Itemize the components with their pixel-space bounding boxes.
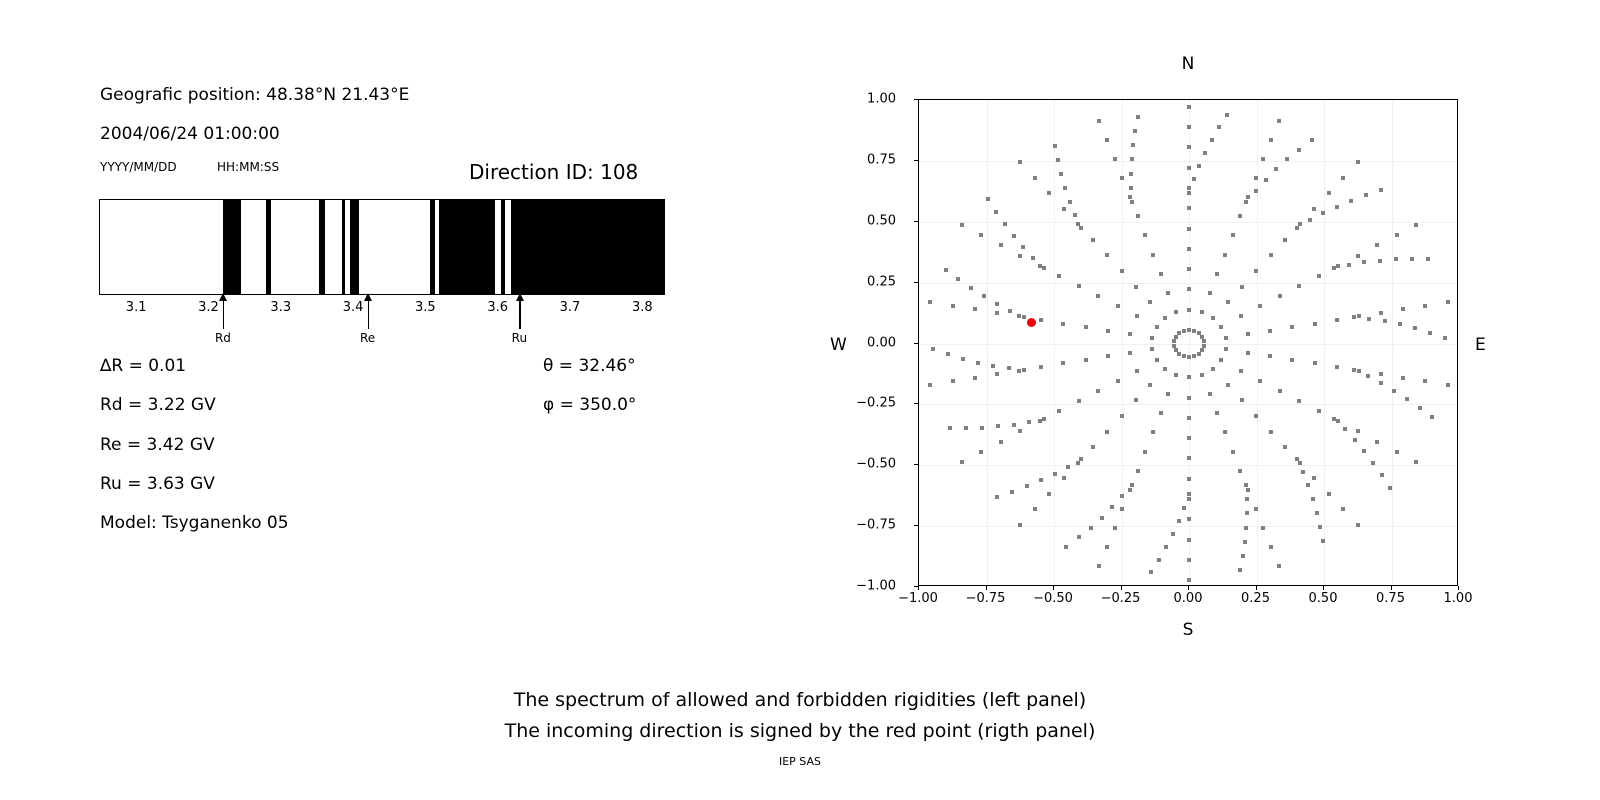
direction-grid-dot [1414, 223, 1418, 227]
direction-grid-dot [1187, 477, 1191, 481]
spectrum-tick-label: 3.2 [198, 300, 219, 315]
direction-grid-dot [1308, 218, 1312, 222]
direction-grid-dot [1033, 507, 1037, 511]
direction-grid-dot [1278, 294, 1282, 298]
x-axis-tick-label: 0.75 [1376, 591, 1405, 606]
direction-grid-dot [1379, 311, 1383, 315]
direction-grid-dot [1134, 285, 1138, 289]
forbidden-band [223, 200, 241, 294]
gridline-horizontal [919, 404, 1457, 405]
forbidden-band [430, 200, 435, 294]
direction-grid-dot [1318, 525, 1322, 529]
spectrum-marker-label: Ru [512, 331, 527, 345]
direction-grid-dot [1135, 314, 1139, 318]
direction-grid-dot [1155, 358, 1159, 362]
direction-grid-dot [1116, 304, 1120, 308]
direction-grid-dot [1327, 492, 1331, 496]
spectrum-tick-label: 3.8 [632, 300, 653, 315]
direction-grid-dot [1007, 366, 1011, 370]
direction-grid-dot [1269, 545, 1273, 549]
rd-value: Rd = 3.22 GV [100, 395, 216, 415]
direction-grid-dot [1357, 369, 1361, 373]
direction-grid-dot [1392, 389, 1396, 393]
direction-grid-dot [960, 223, 964, 227]
direction-grid-dot [1027, 420, 1031, 424]
direction-grid-dot [951, 304, 955, 308]
direction-grid-dot [1215, 411, 1219, 415]
direction-grid-dot [1187, 558, 1191, 562]
direction-grid-dot [1039, 478, 1043, 482]
direction-grid-dot [1128, 351, 1132, 355]
direction-grid-dot [1379, 188, 1383, 192]
x-axis-tick-mark [918, 586, 919, 590]
direction-grid-dot [1371, 461, 1375, 465]
direction-grid-dot [931, 347, 935, 351]
direction-grid-dot [1187, 578, 1191, 582]
direction-grid-dot [928, 300, 932, 304]
direction-grid-dot [1039, 318, 1043, 322]
date-format-hint: YYYY/MM/DD [100, 160, 177, 174]
direction-grid-dot [1057, 409, 1061, 413]
y-axis-tick-label: −0.50 [856, 457, 896, 472]
direction-grid-dot [1063, 186, 1067, 190]
direction-grid-dot [1277, 119, 1281, 123]
direction-grid-dot [944, 268, 948, 272]
direction-grid-dot [1129, 186, 1133, 190]
delta-r-value: ∆R = 0.01 [100, 356, 186, 376]
direction-grid-dot [1317, 409, 1321, 413]
direction-grid-dot [1187, 267, 1191, 271]
direction-grid-dot [1336, 264, 1340, 268]
direction-grid-dot [1172, 344, 1176, 348]
x-axis-tick-mark [1256, 586, 1257, 590]
direction-grid-dot [1362, 260, 1366, 264]
x-axis-tick-label: −0.25 [1101, 591, 1141, 606]
direction-grid-dot [1418, 406, 1422, 410]
direction-grid-dot [1312, 476, 1316, 480]
direction-grid-dot [1401, 307, 1405, 311]
direction-grid-dot [1353, 438, 1357, 442]
direction-grid-dot [1017, 369, 1021, 373]
direction-grid-dot [1258, 379, 1262, 383]
gridline-vertical [1189, 100, 1190, 585]
direction-grid-dot [1192, 329, 1196, 333]
direction-grid-dot [1187, 492, 1191, 496]
direction-grid-dot [1187, 206, 1191, 210]
direction-grid-dot [1197, 352, 1201, 356]
direction-grid-dot [1187, 105, 1191, 109]
direction-grid-dot [1197, 164, 1201, 168]
direction-grid-dot [1022, 368, 1026, 372]
direction-grid-dot [1187, 125, 1191, 129]
direction-grid-dot [1321, 211, 1325, 215]
direction-grid-dot [1143, 450, 1147, 454]
direction-grid-dot [1047, 191, 1051, 195]
direction-grid-dot [1091, 445, 1095, 449]
direction-grid-dot [1105, 545, 1109, 549]
spectrum-marker-label: Rd [215, 331, 231, 345]
direction-grid-dot [964, 426, 968, 430]
direction-grid-dot [996, 424, 1000, 428]
direction-grid-dot [1423, 379, 1427, 383]
geographic-position-text: Geografic position: 48.38°N 21.43°E [100, 85, 409, 105]
gridline-horizontal [919, 283, 1457, 284]
direction-grid-dot [1172, 339, 1176, 343]
direction-grid-dot [1166, 291, 1170, 295]
direction-grid-dot [1110, 505, 1114, 509]
x-axis-tick-label: −0.50 [1033, 591, 1073, 606]
direction-grid-dot [1182, 506, 1186, 510]
direction-grid-dot [999, 440, 1003, 444]
direction-grid-dot [1426, 257, 1430, 261]
direction-grid-dot [1269, 430, 1273, 434]
gridline-vertical [1392, 100, 1393, 585]
direction-grid-dot [973, 307, 977, 311]
spectrum-marker-label: Re [360, 331, 375, 345]
x-axis-tick-label: 0.50 [1309, 591, 1338, 606]
direction-grid-dot [1357, 314, 1361, 318]
direction-grid-dot [1297, 148, 1301, 152]
direction-grid-dot [1313, 361, 1317, 365]
direction-grid-dot [1182, 354, 1186, 358]
direction-grid-dot [1352, 315, 1356, 319]
y-axis-tick-mark [914, 160, 918, 161]
direction-grid-dot [1210, 138, 1214, 142]
direction-grid-dot [1163, 367, 1167, 371]
gridline-horizontal [919, 344, 1457, 345]
y-axis-tick-label: 0.00 [867, 335, 896, 350]
direction-grid-dot [1151, 253, 1155, 257]
direction-grid-dot [1018, 254, 1022, 258]
y-axis-tick-mark [914, 525, 918, 526]
direction-grid-dot [1414, 460, 1418, 464]
rigidity-spectrum-chart [99, 199, 665, 295]
x-axis-tick-mark [1391, 586, 1392, 590]
direction-grid-dot [979, 233, 983, 237]
left-panel: Geografic position: 48.38°N 21.43°E 2004… [0, 0, 700, 680]
direction-grid-dot [1120, 507, 1124, 511]
direction-grid-dot [1038, 264, 1042, 268]
direction-grid-dot [1010, 490, 1014, 494]
direction-grid-dot [1129, 172, 1133, 176]
direction-grid-dot [1244, 526, 1248, 530]
direction-grid-dot [1136, 214, 1140, 218]
direction-grid-dot [1240, 285, 1244, 289]
direction-grid-dot [1356, 429, 1360, 433]
direction-grid-dot [1258, 304, 1262, 308]
direction-grid-dot [1332, 266, 1336, 270]
direction-grid-dot [1164, 545, 1168, 549]
spectrum-tick-label: 3.5 [415, 300, 436, 315]
direction-grid-dot [1383, 319, 1387, 323]
direction-grid-dot [1405, 397, 1409, 401]
x-axis-tick-mark [1323, 586, 1324, 590]
arrow-up-icon [364, 293, 372, 301]
direction-grid-dot [1244, 483, 1248, 487]
direction-grid-dot [1151, 430, 1155, 434]
direction-grid-dot [1200, 335, 1204, 339]
direction-grid-dot [1130, 157, 1134, 161]
direction-grid-dot [1187, 436, 1191, 440]
phi-value: φ = 350.0° [543, 395, 636, 415]
direction-grid-dot [1022, 315, 1026, 319]
direction-grid-dot [1295, 457, 1299, 461]
direction-grid-dot [1089, 526, 1093, 530]
direction-grid-dot [1335, 205, 1339, 209]
direction-grid-dot [1366, 374, 1370, 378]
spectrum-tick-label: 3.6 [487, 300, 508, 315]
direction-grid-dot [1187, 145, 1191, 149]
direction-grid-dot [1025, 484, 1029, 488]
arrow-up-icon [219, 293, 227, 301]
direction-grid-dot [1315, 511, 1319, 515]
direction-grid-dot [1182, 329, 1186, 333]
direction-grid-dot [1187, 396, 1191, 400]
forbidden-band [350, 200, 359, 294]
direction-grid-dot [1159, 411, 1163, 415]
direction-grid-dot [1394, 257, 1398, 261]
footer-credit: IEP SAS [0, 755, 1600, 768]
gridline-horizontal [919, 526, 1457, 527]
direction-grid-dot [1061, 322, 1065, 326]
direction-grid-dot [1219, 325, 1223, 329]
direction-grid-dot [1367, 317, 1371, 321]
direction-grid-dot [1148, 383, 1152, 387]
direction-grid-dot [1073, 213, 1077, 217]
x-axis-tick-label: −0.75 [966, 591, 1006, 606]
direction-grid-dot [1254, 189, 1258, 193]
direction-grid-dot [1150, 336, 1154, 340]
direction-grid-dot [1077, 535, 1081, 539]
direction-grid-dot [1231, 233, 1235, 237]
direction-grid-dot [1012, 423, 1016, 427]
direction-grid-dot [1295, 226, 1299, 230]
direction-grid-dot [1120, 494, 1124, 498]
direction-grid-dot [1443, 336, 1447, 340]
direction-grid-dot [1177, 331, 1181, 335]
direction-grid-dot [999, 243, 1003, 247]
direction-grid-dot [1341, 507, 1345, 511]
direction-grid-dot [1018, 523, 1022, 527]
direction-grid-dot [1150, 347, 1154, 351]
direction-grid-dot [1246, 332, 1250, 336]
direction-grid-dot [1033, 176, 1037, 180]
direction-grid-dot [1187, 538, 1191, 542]
direction-grid-dot [1155, 325, 1159, 329]
x-axis-tick-label: 1.00 [1444, 591, 1473, 606]
spectrum-tick-label: 3.7 [560, 300, 581, 315]
direction-grid-dot [1375, 440, 1379, 444]
direction-grid-dot [1317, 274, 1321, 278]
direction-grid-dot [1039, 365, 1043, 369]
direction-grid-dot [986, 197, 990, 201]
direction-grid-dot [1136, 115, 1140, 119]
arrow-up-icon [516, 293, 524, 301]
direction-grid-dot [1187, 328, 1191, 332]
direction-grid-dot [1174, 310, 1178, 314]
direction-grid-dot [1053, 472, 1057, 476]
direction-grid-dot [1187, 517, 1191, 521]
direction-grid-dot [1187, 416, 1191, 420]
direction-grid-dot [1301, 470, 1305, 474]
direction-grid-dot [1297, 399, 1301, 403]
x-axis-tick-mark [1458, 586, 1459, 590]
direction-grid-dot [982, 294, 986, 298]
y-axis-tick-label: −0.25 [856, 396, 896, 411]
direction-grid-dot [973, 376, 977, 380]
direction-grid-dot [1226, 300, 1230, 304]
direction-grid-dot [1380, 473, 1384, 477]
x-axis-tick-mark [986, 586, 987, 590]
direction-grid-dot [1187, 375, 1191, 379]
direction-grid-dot [1077, 284, 1081, 288]
direction-grid-dot [1200, 310, 1204, 314]
direction-grid-dot [1398, 322, 1402, 326]
direction-grid-dot [1187, 186, 1191, 190]
right-panel: N S W E −1.00−0.75−0.50−0.250.000.250.50… [830, 40, 1530, 660]
y-axis-tick-mark [914, 282, 918, 283]
x-axis-tick-label: 0.00 [1174, 591, 1203, 606]
direction-grid-dot [1215, 272, 1219, 276]
direction-grid-dot [1246, 351, 1250, 355]
gridline-vertical [1257, 100, 1258, 585]
direction-grid-dot [1268, 354, 1272, 358]
direction-grid-dot [1349, 199, 1353, 203]
direction-grid-dot [1413, 326, 1417, 330]
direction-grid-dot [1143, 233, 1147, 237]
direction-grid-dot [1047, 492, 1051, 496]
direction-grid-dot [1187, 287, 1191, 291]
forbidden-band [342, 200, 346, 294]
direction-grid-dot [1166, 392, 1170, 396]
direction-grid-dot [1120, 269, 1124, 273]
re-value: Re = 3.42 GV [100, 435, 215, 455]
incoming-direction-point [1027, 318, 1036, 327]
spectrum-bar [99, 199, 665, 295]
direction-grid-dot [1395, 233, 1399, 237]
direction-grid-dot [1428, 331, 1432, 335]
compass-label-south: S [1183, 620, 1194, 640]
direction-grid-dot [1244, 200, 1248, 204]
direction-grid-dot [1053, 144, 1057, 148]
direction-grid-dot [1187, 456, 1191, 460]
direction-grid-dot [1163, 316, 1167, 320]
direction-grid-dot [1254, 269, 1258, 273]
gridline-vertical [1122, 100, 1123, 585]
compass-label-west: W [830, 335, 847, 355]
direction-grid-dot [1100, 516, 1104, 520]
direction-grid-dot [1311, 497, 1315, 501]
direction-grid-dot [1269, 138, 1273, 142]
direction-grid-dot [960, 460, 964, 464]
direction-grid-dot [1203, 151, 1207, 155]
direction-grid-dot [1131, 143, 1135, 147]
direction-grid-dot [1254, 414, 1258, 418]
direction-grid-dot [1388, 486, 1392, 490]
direction-grid-dot [1187, 247, 1191, 251]
direction-grid-dot [1254, 507, 1258, 511]
direction-grid-dot [1062, 476, 1066, 480]
direction-grid-dot [1312, 207, 1316, 211]
direction-grid-dot [1238, 214, 1242, 218]
direction-grid-dot [1130, 200, 1134, 204]
gridline-vertical [1324, 100, 1325, 585]
caption-line-2: The incoming direction is signed by the … [0, 716, 1600, 747]
direction-grid-dot [1187, 227, 1191, 231]
direction-grid-dot [1224, 347, 1228, 351]
direction-grid-dot [1105, 430, 1109, 434]
direction-grid-dot [1120, 176, 1124, 180]
spectrum-tick-label: 3.3 [270, 300, 291, 315]
direction-grid-dot [1223, 430, 1227, 434]
direction-grid-dot [928, 383, 932, 387]
direction-grid-dot [1352, 368, 1356, 372]
direction-grid-dot [976, 361, 980, 365]
direction-id-text: Direction ID: 108 [469, 160, 638, 184]
direction-grid-dot [1056, 158, 1060, 162]
direction-grid-dot [1017, 314, 1021, 318]
direction-grid-dot [1059, 172, 1063, 176]
direction-grid-dot [1106, 329, 1110, 333]
direction-grid-dot [1332, 417, 1336, 421]
direction-grid-dot [1226, 383, 1230, 387]
direction-grid-dot [995, 495, 999, 499]
x-axis-tick-mark [1053, 586, 1054, 590]
figure-caption: The spectrum of allowed and forbidden ri… [0, 685, 1600, 747]
direction-grid-dot [1042, 417, 1046, 421]
direction-grid-dot [1149, 570, 1153, 574]
y-axis-tick-label: −0.75 [856, 518, 896, 533]
y-axis-tick-label: 0.75 [867, 152, 896, 167]
direction-grid-dot [1068, 200, 1072, 204]
spectrum-x-axis: 3.13.23.33.43.53.63.73.8RdReRu [99, 296, 665, 356]
y-axis-tick-mark [914, 403, 918, 404]
compass-label-north: N [1182, 54, 1195, 74]
direction-grid-dot [1223, 253, 1227, 257]
direction-grid-dot [1335, 365, 1339, 369]
direction-grid-dot [1113, 526, 1117, 530]
direction-grid-dot [1021, 245, 1025, 249]
direction-grid-dot [1313, 322, 1317, 326]
direction-grid-dot [1208, 392, 1212, 396]
direction-grid-dot [980, 426, 984, 430]
direction-grid-dot [1159, 272, 1163, 276]
direction-grid-dot [969, 286, 973, 290]
direction-grid-dot [1378, 259, 1382, 263]
direction-grid-dot [1327, 191, 1331, 195]
direction-grid-dot [1335, 318, 1339, 322]
direction-grid-dot [1003, 222, 1007, 226]
direction-grid-dot [1077, 399, 1081, 403]
direction-grid-dot [1290, 325, 1294, 329]
direction-grid-dot [1336, 419, 1340, 423]
direction-grid-dot [979, 450, 983, 454]
direction-grid-dot [961, 357, 965, 361]
direction-grid-dot [1245, 497, 1249, 501]
direction-grid-dot [1084, 358, 1088, 362]
direction-grid-dot [1243, 540, 1247, 544]
direction-grid-dot [1423, 304, 1427, 308]
direction-grid-dot [1097, 564, 1101, 568]
direction-grid-dot [951, 379, 955, 383]
direction-grid-dot [1290, 358, 1294, 362]
direction-grid-dot [1241, 554, 1245, 558]
direction-grid-dot [1031, 256, 1035, 260]
direction-grid-dot [1261, 157, 1265, 161]
direction-grid-dot [1174, 335, 1178, 339]
direction-grid-dot [1341, 176, 1345, 180]
direction-grid-dot [1134, 398, 1138, 402]
